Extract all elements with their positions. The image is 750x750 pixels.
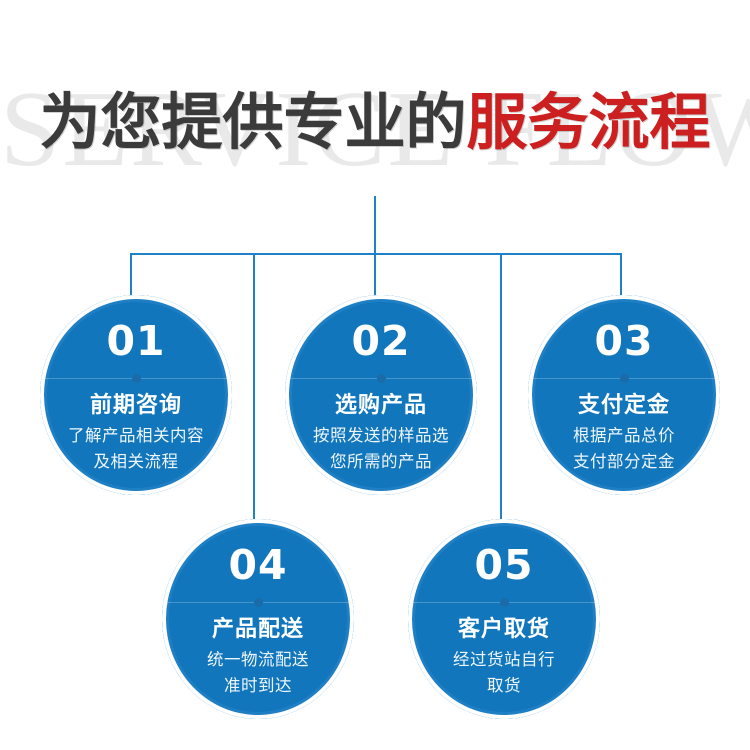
connector-drop-03 [620, 253, 622, 301]
header: SERVICE FLOW 为您提供专业的服务流程 [0, 70, 750, 200]
connector-bus-horizontal [130, 253, 622, 255]
step-description-line: 经过货站自行 [453, 648, 555, 674]
divider-dot-icon [620, 374, 629, 383]
step-description-line: 您所需的产品 [313, 450, 449, 476]
step-node-04[interactable]: 04 产品配送 统一物流配送 准时到达 [162, 519, 354, 719]
step-description-line: 统一物流配送 [207, 648, 309, 674]
step-node-05[interactable]: 05 客户取货 经过货站自行 取货 [408, 519, 600, 719]
step-description-line: 准时到达 [207, 674, 309, 700]
service-flow-infographic: SERVICE FLOW 为您提供专业的服务流程 01 前期咨询 了解产品相关内… [0, 0, 750, 750]
step-description: 经过货站自行 取货 [453, 648, 555, 699]
step-description-line: 了解产品相关内容 [68, 424, 204, 450]
step-node-01[interactable]: 01 前期咨询 了解产品相关内容 及相关流程 [40, 295, 232, 495]
step-description: 根据产品总价 支付部分定金 [573, 424, 675, 475]
step-node-02-content: 02 选购产品 按照发送的样品选 您所需的产品 [285, 295, 477, 495]
step-divider [408, 598, 600, 607]
page-title-accent: 服务流程 [467, 88, 711, 156]
step-description: 统一物流配送 准时到达 [207, 648, 309, 699]
step-node-03[interactable]: 03 支付定金 根据产品总价 支付部分定金 [528, 295, 720, 495]
page-title-primary: 为您提供专业的 [39, 88, 466, 156]
page-title: 为您提供专业的服务流程 [0, 92, 750, 153]
step-title: 选购产品 [335, 393, 427, 417]
step-title: 前期咨询 [90, 393, 182, 417]
step-node-05-content: 05 客户取货 经过货站自行 取货 [408, 519, 600, 719]
step-divider [528, 374, 720, 383]
step-number: 05 [474, 545, 533, 586]
step-description-line: 按照发送的样品选 [313, 424, 449, 450]
step-description: 了解产品相关内容 及相关流程 [68, 424, 204, 475]
step-number: 03 [594, 321, 653, 362]
connector-drop-02 [374, 253, 376, 301]
step-node-01-content: 01 前期咨询 了解产品相关内容 及相关流程 [40, 295, 232, 495]
step-description-line: 根据产品总价 [573, 424, 675, 450]
step-number: 04 [228, 545, 287, 586]
step-description: 按照发送的样品选 您所需的产品 [313, 424, 449, 475]
connector-drop-01 [130, 253, 132, 301]
step-divider [162, 598, 354, 607]
connector-stem-top [374, 196, 376, 254]
step-number: 02 [351, 321, 410, 362]
divider-dot-icon [500, 598, 509, 607]
step-title: 产品配送 [212, 617, 304, 641]
step-divider [285, 374, 477, 383]
divider-dot-icon [132, 374, 141, 383]
step-title: 支付定金 [578, 393, 670, 417]
step-description-line: 及相关流程 [68, 450, 204, 476]
step-divider [40, 374, 232, 383]
step-node-03-content: 03 支付定金 根据产品总价 支付部分定金 [528, 295, 720, 495]
step-description-line: 取货 [453, 674, 555, 700]
step-title: 客户取货 [458, 617, 550, 641]
connector-drop-04 [253, 253, 255, 521]
step-node-02[interactable]: 02 选购产品 按照发送的样品选 您所需的产品 [285, 295, 477, 495]
divider-dot-icon [254, 598, 263, 607]
step-description-line: 支付部分定金 [573, 450, 675, 476]
step-number: 01 [106, 321, 165, 362]
divider-dot-icon [377, 374, 386, 383]
connector-drop-05 [500, 253, 502, 521]
step-node-04-content: 04 产品配送 统一物流配送 准时到达 [162, 519, 354, 719]
